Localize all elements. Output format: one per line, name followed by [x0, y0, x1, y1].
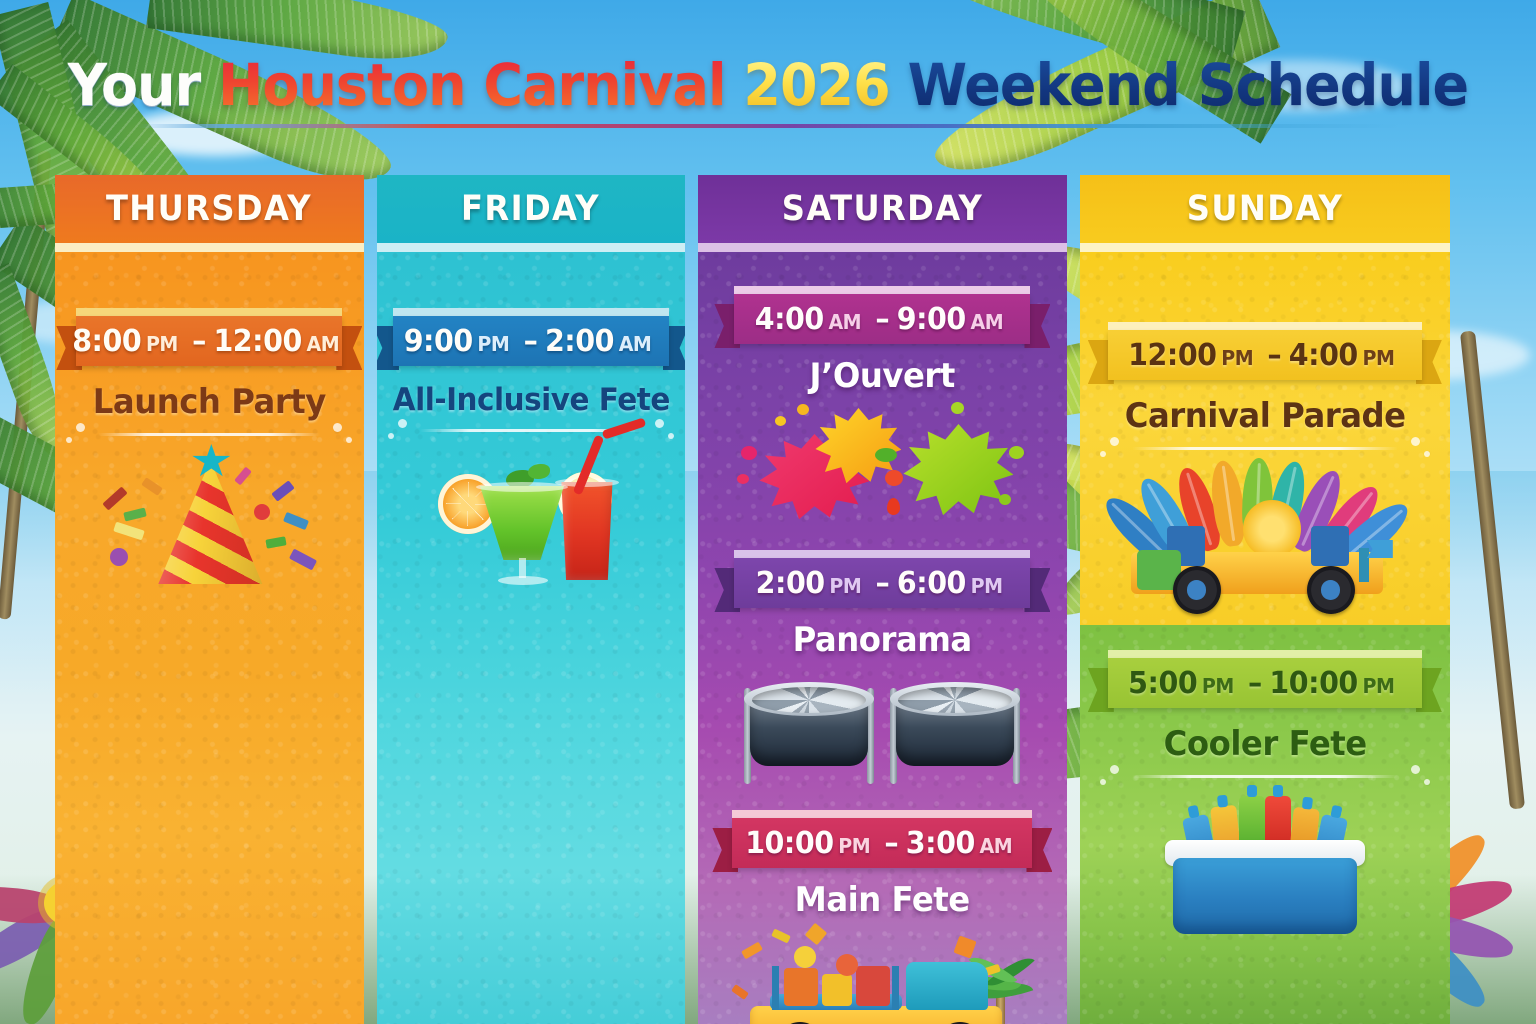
canopy-post [892, 966, 899, 1010]
day-header-saturday: SATURDAY [698, 175, 1066, 243]
truck-cab [906, 962, 988, 1010]
time-end: 4:00 [1289, 338, 1358, 373]
event-title: Panorama [707, 620, 1057, 660]
day-name-label: FRIDAY [461, 189, 600, 229]
time-end: 10:00 [1270, 666, 1358, 701]
ribbon-top-stripe [1108, 650, 1422, 658]
green-cocktail [480, 486, 564, 560]
event-time: 9:00PM–2:00AM [404, 324, 658, 359]
event-title: Main Fete [707, 880, 1057, 920]
time-start: 2:00 [756, 566, 825, 601]
time-end-meridiem: AM [307, 332, 340, 356]
day-name-label: THURSDAY [106, 189, 312, 229]
event-card-carnival-parade[interactable]: 12:00PM–4:00PM Carnival Parade [1080, 252, 1450, 616]
event-card-all-inclusive-fete[interactable]: 9:00PM–2:00AM All-Inclusive Fete [377, 252, 686, 593]
time-start-meridiem: PM [1202, 674, 1234, 698]
day-header-friday: FRIDAY [377, 175, 686, 243]
time-start: 12:00 [1128, 338, 1216, 373]
steel-pan-left [744, 678, 874, 774]
day-body-thursday: 8:00PM–12:00AM Launch Party [55, 252, 364, 1024]
steel-pan-right [890, 678, 1020, 774]
ribbon-body: 12:00PM–4:00PM [1108, 330, 1422, 380]
time-ribbon: 10:00PM–3:00AM [732, 810, 1032, 868]
time-start: 4:00 [755, 302, 824, 337]
time-start-meridiem: PM [478, 332, 510, 356]
event-card-launch-party[interactable]: 8:00PM–12:00AM Launch Party [55, 252, 364, 592]
time-dash: – [1268, 338, 1282, 373]
title-part-weekend-schedule: Weekend Schedule [908, 51, 1469, 119]
cocktail-drinks-icon [406, 438, 656, 593]
time-ribbon: 9:00PM–2:00AM [393, 308, 669, 366]
time-end-meridiem: AM [980, 834, 1013, 858]
glass-stem [519, 558, 526, 578]
ribbon-top-stripe [76, 308, 342, 316]
cooler-icon [1125, 784, 1405, 944]
time-start-meridiem: PM [1221, 346, 1253, 370]
time-start-meridiem: AM [829, 310, 862, 334]
event-title: J’Ouvert [707, 356, 1057, 396]
splatter-green [903, 424, 1013, 516]
paint-splatter-icon [737, 402, 1027, 532]
cooler-body [1173, 858, 1357, 934]
event-time: 10:00PM–3:00AM [746, 826, 1020, 861]
time-ribbon: 4:00AM–9:00AM [734, 286, 1030, 344]
event-divider-rule [1132, 775, 1399, 778]
event-title: Carnival Parade [1089, 396, 1441, 436]
day-name-label: SATURDAY [782, 189, 983, 229]
day-column-sunday: SUNDAY 12:00PM–4:00PM [1080, 175, 1450, 1024]
header-divider [1080, 243, 1450, 252]
header-divider [698, 243, 1066, 252]
float-sunburst [1243, 500, 1301, 558]
time-dash: – [524, 324, 538, 359]
event-card-jouvert[interactable]: 4:00AM–9:00AM J’Ouvert [698, 252, 1066, 532]
time-ribbon: 12:00PM–4:00PM [1108, 322, 1422, 380]
time-dash: – [885, 826, 899, 861]
day-column-thursday: THURSDAY 8:00PM–12:00AM Launch [55, 175, 364, 1024]
mint-leaf [528, 464, 550, 479]
time-start: 10:00 [746, 826, 834, 861]
ribbon-top-stripe [734, 286, 1030, 294]
page-title: Your Houston Carnival 2026 Weekend Sched… [54, 56, 1482, 114]
time-start: 8:00 [72, 324, 141, 359]
page-title-block: Your Houston Carnival 2026 Weekend Sched… [0, 56, 1536, 128]
day-column-saturday: SATURDAY 4:00AM–9:00AM [698, 175, 1066, 1024]
day-name-label: SUNDAY [1187, 189, 1343, 229]
canopy-post [772, 966, 779, 1010]
day-header-thursday: THURSDAY [55, 175, 364, 243]
music-truck-icon [732, 926, 1032, 1024]
schedule-columns: THURSDAY 8:00PM–12:00AM Launch [55, 175, 1450, 1024]
time-dash: – [876, 566, 890, 601]
title-part-your: Your [68, 51, 218, 119]
day-header-sunday: SUNDAY [1080, 175, 1450, 243]
pan-bowl [898, 687, 1012, 713]
ribbon-top-stripe [393, 308, 669, 316]
event-card-cooler-fete[interactable]: 5:00PM–10:00PM Cooler Fete [1080, 616, 1450, 944]
event-time: 2:00PM–6:00PM [756, 566, 1010, 601]
time-end-meridiem: AM [619, 332, 652, 356]
ribbon-body: 10:00PM–3:00AM [732, 818, 1032, 868]
time-end-meridiem: PM [1363, 346, 1395, 370]
day-column-friday: FRIDAY 9:00PM–2:00AM All-Inclu [377, 175, 686, 1024]
time-ribbon: 2:00PM–6:00PM [734, 550, 1030, 608]
ribbon-body: 8:00PM–12:00AM [76, 316, 342, 366]
day-body-friday: 9:00PM–2:00AM All-Inclusive Fete [377, 252, 686, 1024]
event-title: Launch Party [63, 382, 356, 422]
time-start: 5:00 [1128, 666, 1197, 701]
ribbon-body: 5:00PM–10:00PM [1108, 658, 1422, 708]
glass-foot [498, 576, 548, 585]
party-hat-icon [84, 442, 334, 592]
header-divider [55, 243, 364, 252]
hat-sheen [158, 460, 262, 584]
time-end: 3:00 [906, 826, 975, 861]
event-card-panorama[interactable]: 2:00PM–6:00PM Panorama [698, 532, 1066, 796]
time-start-meridiem: PM [839, 834, 871, 858]
ribbon-top-stripe [734, 550, 1030, 558]
time-end-meridiem: AM [971, 310, 1004, 334]
float-wheel [1173, 566, 1221, 614]
ribbon-top-stripe [732, 810, 1032, 818]
event-time: 8:00PM–12:00AM [72, 324, 346, 359]
time-dash: – [192, 324, 206, 359]
event-title: All-Inclusive Fete [384, 382, 677, 418]
ribbon-body: 2:00PM–6:00PM [734, 558, 1030, 608]
float-wheel [1307, 566, 1355, 614]
title-part-houston-carnival: Houston Carnival [218, 51, 743, 119]
time-end: 6:00 [897, 566, 966, 601]
day-body-sunday: 12:00PM–4:00PM Carnival Parade [1080, 252, 1450, 1024]
cocktail-glass-rim [476, 482, 568, 492]
time-end-meridiem: PM [1363, 674, 1395, 698]
event-title: Cooler Fete [1089, 724, 1441, 764]
event-divider-rule [98, 433, 320, 436]
event-time: 5:00PM–10:00PM [1128, 666, 1401, 701]
event-time: 12:00PM–4:00PM [1128, 338, 1401, 373]
time-end: 9:00 [897, 302, 966, 337]
title-part-year: 2026 [743, 51, 907, 119]
time-ribbon: 5:00PM–10:00PM [1108, 650, 1422, 708]
time-ribbon: 8:00PM–12:00AM [76, 308, 342, 366]
steel-pan-drums-icon [732, 666, 1032, 796]
tall-red-drink [558, 482, 616, 580]
event-divider-rule [1132, 447, 1399, 450]
time-end: 12:00 [214, 324, 302, 359]
header-divider [377, 243, 686, 252]
day-body-saturday: 4:00AM–9:00AM J’Ouvert [698, 252, 1066, 1024]
parade-float-icon [1115, 456, 1415, 616]
ribbon-top-stripe [1108, 322, 1422, 330]
time-start: 9:00 [404, 324, 473, 359]
time-end-meridiem: PM [971, 574, 1003, 598]
pan-bowl [752, 687, 866, 713]
event-time: 4:00AM–9:00AM [755, 302, 1010, 337]
ribbon-body: 9:00PM–2:00AM [393, 316, 669, 366]
event-card-main-fete[interactable]: 10:00PM–3:00AM Main Fete [698, 796, 1066, 1024]
time-dash: – [1248, 666, 1262, 701]
title-underline-rule [138, 124, 1398, 128]
time-dash: – [876, 302, 890, 337]
time-end: 2:00 [545, 324, 614, 359]
time-start-meridiem: PM [829, 574, 861, 598]
time-start-meridiem: PM [146, 332, 178, 356]
ribbon-body: 4:00AM–9:00AM [734, 294, 1030, 344]
